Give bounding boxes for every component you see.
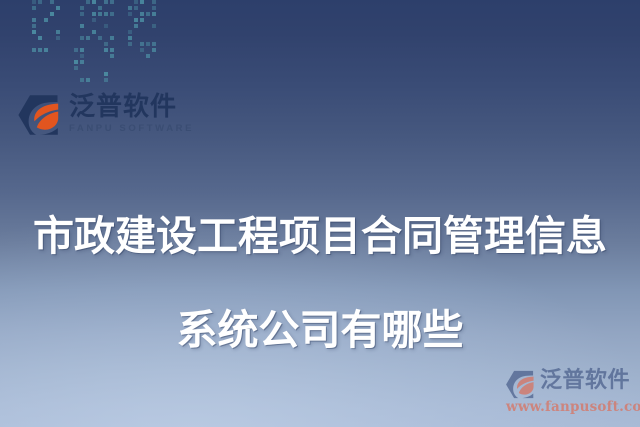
promo-banner: 泛普软件 FANPU SOFTWARE 市政建设工程项目合同管理信息 系统公司有… [0,0,640,427]
pixel-building-column [128,0,158,70]
pixel-building-column [32,0,66,62]
site-watermark: 泛普软件 www.fanpusoft.com [505,366,635,422]
brand-logo-wordmark: 泛普软件 FANPU SOFTWARE [69,92,179,138]
brand-name-cn: 泛普软件 [69,92,179,122]
watermark-brand-name: 泛普软件 [540,367,630,395]
brand-logo: 泛普软件 FANPU SOFTWARE [17,92,177,138]
fanpu-hexagon-logo-mark-icon [17,94,63,136]
brand-name-en: FANPU SOFTWARE [69,123,179,135]
pixel-building-column [74,0,116,92]
fanpu-hexagon-logo-mark-icon [505,370,537,399]
page-title-line-2: 系统公司有哪些 [177,306,464,354]
watermark-url: www.fanpusoft.com [506,399,640,415]
page-title-line-1: 市政建设工程项目合同管理信息 [33,212,607,260]
page-title: 市政建设工程项目合同管理信息 系统公司有哪些 [0,166,640,354]
pixel-building-pattern-decor [32,0,162,92]
